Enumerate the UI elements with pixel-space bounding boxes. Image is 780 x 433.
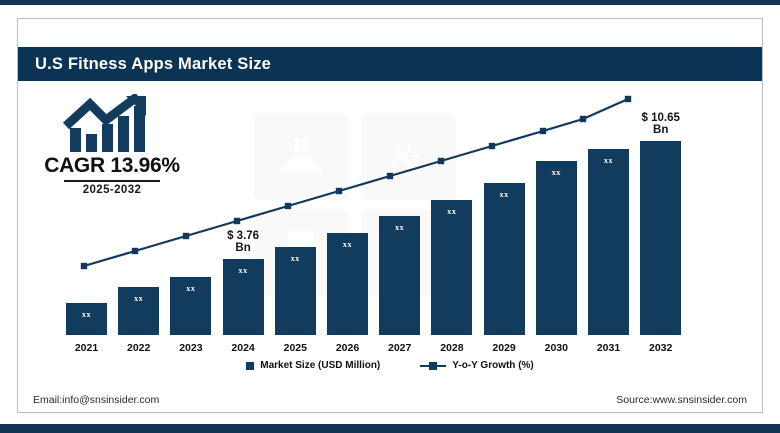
legend-label-market-size: Market Size (USD Million) <box>260 360 380 371</box>
chart-footer: Email:info@snsinsider.com Source:www.sns… <box>18 388 762 412</box>
yoy-growth-marker-2027 <box>387 173 393 179</box>
yoy-growth-marker-2029 <box>489 143 495 149</box>
yoy-growth-marker-2028 <box>438 158 444 164</box>
yoy-growth-marker-2022 <box>132 248 138 254</box>
yoy-growth-marker-2031 <box>580 116 586 122</box>
top-accent-strip <box>0 0 780 5</box>
plot-area: & CAGR 13.96% 2025-2032 xx2021xx2022xx20… <box>18 82 762 382</box>
chart-infographic: U.S Fitness Apps Market Size & <box>0 0 780 433</box>
legend-label-yoy-growth: Y-o-Y Growth (%) <box>452 360 533 371</box>
yoy-growth-marker-2021 <box>81 263 87 269</box>
yoy-growth-marker-2032 <box>625 96 631 102</box>
yoy-growth-line-series <box>18 82 762 382</box>
yoy-growth-marker-2026 <box>336 188 342 194</box>
page-title: U.S Fitness Apps Market Size <box>35 55 271 74</box>
yoy-growth-marker-2024 <box>234 218 240 224</box>
footer-email[interactable]: Email:info@snsinsider.com <box>33 394 159 406</box>
footer-source[interactable]: Source:www.snsinsider.com <box>616 394 747 406</box>
yoy-growth-marker-2023 <box>183 233 189 239</box>
chart-header-band: U.S Fitness Apps Market Size <box>18 47 762 81</box>
legend-item-market-size[interactable]: Market Size (USD Million) <box>246 360 380 371</box>
yoy-growth-marker-2030 <box>540 128 546 134</box>
legend-line-marker-icon <box>420 362 446 370</box>
yoy-growth-line <box>84 99 628 266</box>
chart-legend: Market Size (USD Million) Y-o-Y Growth (… <box>18 360 762 371</box>
bottom-accent-strip <box>0 424 780 433</box>
legend-square-icon <box>246 362 254 370</box>
yoy-growth-marker-2025 <box>285 203 291 209</box>
legend-item-yoy-growth[interactable]: Y-o-Y Growth (%) <box>420 360 533 371</box>
